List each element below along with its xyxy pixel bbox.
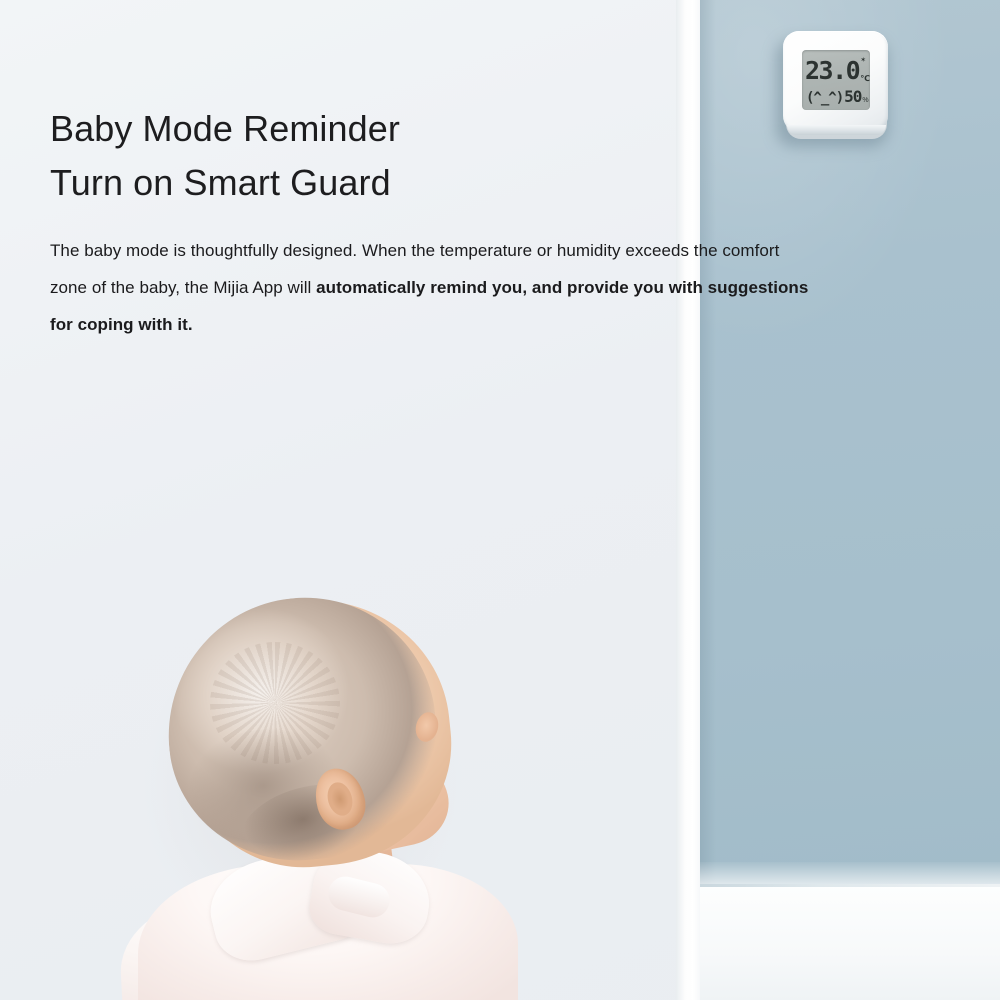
baby-photo xyxy=(60,580,580,1000)
lcd-temperature-row: 23.0 ✶ ℃ xyxy=(805,55,867,83)
device-bottom-lip xyxy=(787,125,886,135)
headline-line-2: Turn on Smart Guard xyxy=(50,156,670,210)
lcd-temperature-unit: ℃ xyxy=(860,75,870,83)
lcd-temperature-value: 23.0 xyxy=(805,58,859,83)
thermometer-hygrometer-device: 23.0 ✶ ℃ (^_^) 50 % xyxy=(783,31,890,141)
device-lcd-screen: 23.0 ✶ ℃ (^_^) 50 % xyxy=(802,50,870,110)
lcd-temperature-unit-group: ✶ ℃ xyxy=(860,57,870,83)
lcd-humidity-value: 50 xyxy=(844,89,861,105)
wall-corner-shadow xyxy=(700,0,716,884)
wall-lower-edge xyxy=(700,884,1000,887)
comfort-face-icon: (^_^) xyxy=(806,91,843,105)
wall-corner-strip xyxy=(676,0,702,1000)
description-paragraph: The baby mode is thoughtfully designed. … xyxy=(50,232,820,343)
lcd-humidity-unit: % xyxy=(862,97,868,104)
device-body: 23.0 ✶ ℃ (^_^) 50 % xyxy=(783,31,888,132)
lcd-humidity-row: (^_^) 50 % xyxy=(806,85,868,105)
product-marketing-banner: 23.0 ✶ ℃ (^_^) 50 % Baby Mode Reminder T… xyxy=(0,0,1000,1000)
page-title: Baby Mode Reminder Turn on Smart Guard xyxy=(50,102,670,210)
wall-panel-bevel xyxy=(700,862,1000,886)
wall-lower-section xyxy=(700,884,1000,1000)
bluetooth-icon: ✶ xyxy=(860,57,866,64)
headline-line-1: Baby Mode Reminder xyxy=(50,102,670,156)
